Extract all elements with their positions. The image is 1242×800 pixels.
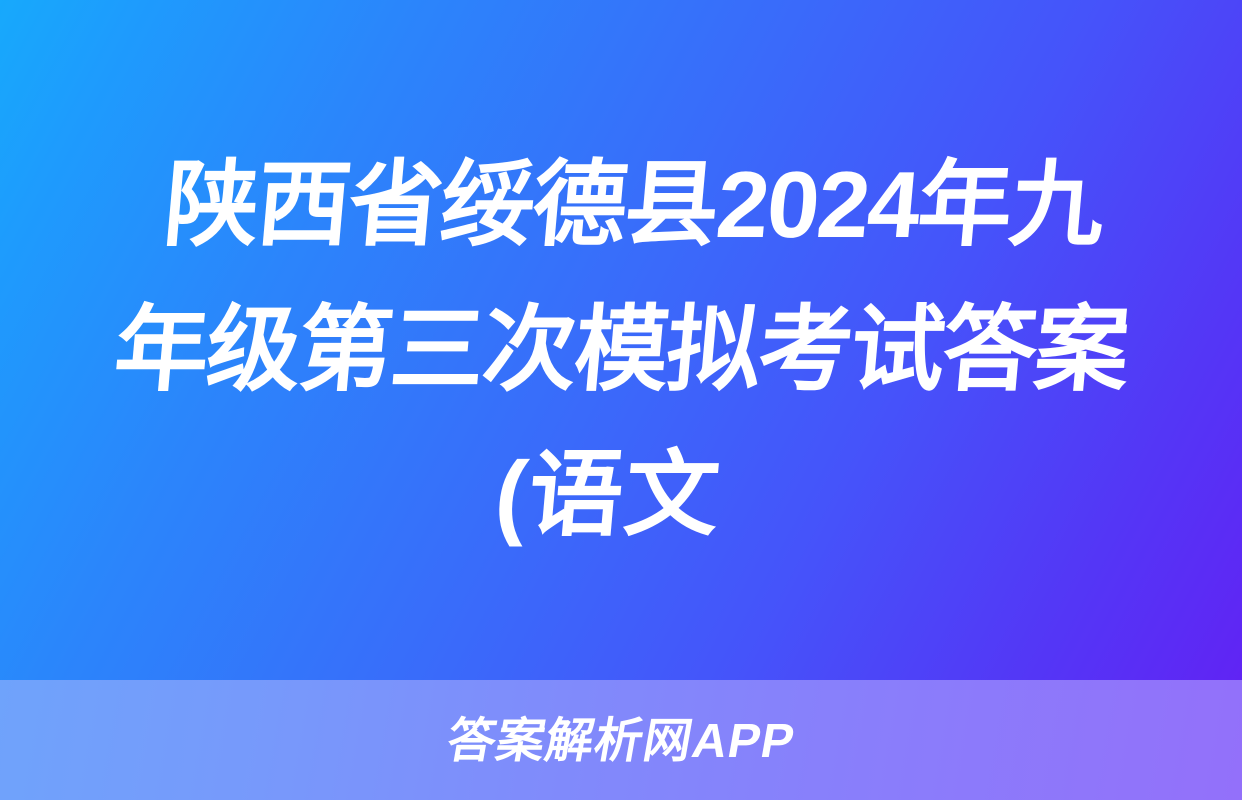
page-title-line-3: (语文 <box>62 422 1155 567</box>
poster-canvas: 陕西省绥德县2024年九 年级第三次模拟考试答案 (语文 答案解析网APP <box>0 0 1242 800</box>
hero-gradient-background: 陕西省绥德县2024年九 年级第三次模拟考试答案 (语文 <box>0 0 1242 680</box>
page-title-line-2: 年级第三次模拟考试答案 <box>75 277 1168 422</box>
page-title-line-1: 陕西省绥德县2024年九 <box>87 132 1180 277</box>
app-watermark-label: 答案解析网APP <box>443 714 799 766</box>
page-title: 陕西省绥德县2024年九 年级第三次模拟考试答案 (语文 <box>62 132 1180 567</box>
footer-watermark-band: 答案解析网APP <box>0 680 1242 800</box>
